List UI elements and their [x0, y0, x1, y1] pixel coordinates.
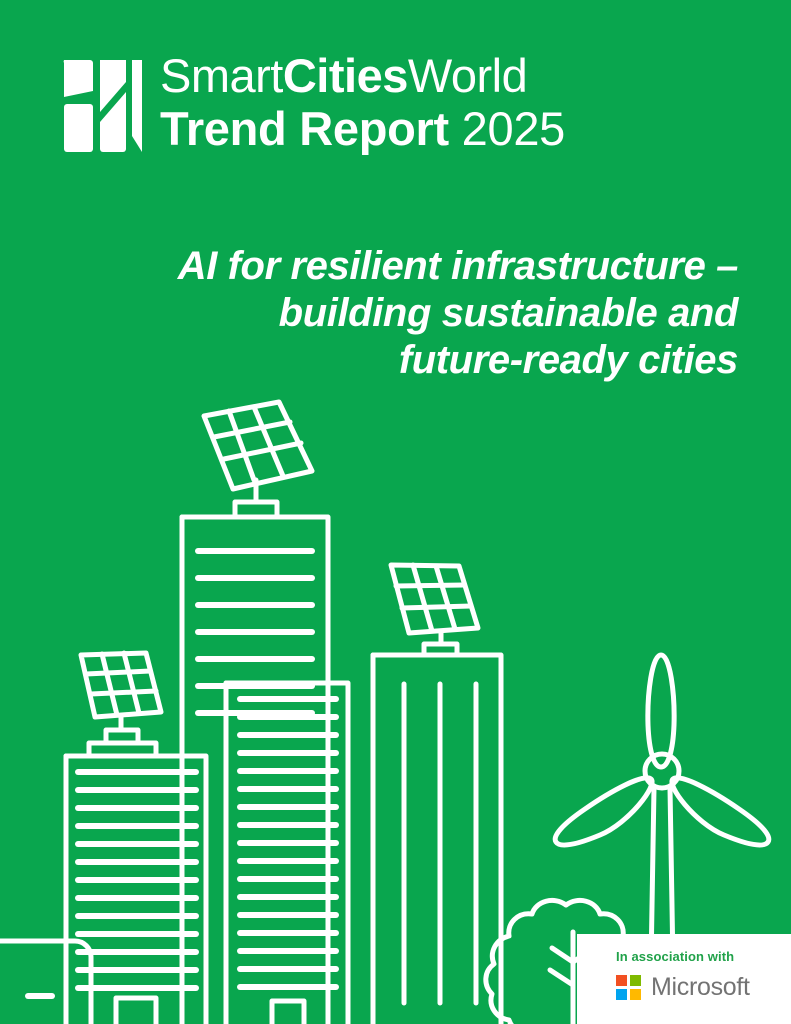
solar-panel-left-building-icon	[66, 653, 206, 1024]
vertical-line-building-icon	[373, 565, 501, 1024]
microsoft-square-bottom-right	[630, 989, 641, 1000]
smart-city-illustration	[0, 0, 791, 1024]
microsoft-square-top-left	[616, 975, 627, 986]
microsoft-square-top-right	[630, 975, 641, 986]
microsoft-logo-icon	[616, 975, 641, 1000]
microsoft-wordmark: Microsoft	[651, 975, 750, 1000]
partner-badge: In association with Microsoft	[577, 934, 791, 1024]
association-label: In association with	[616, 949, 734, 964]
microsoft-logo: Microsoft	[616, 975, 750, 1000]
microsoft-square-bottom-left	[616, 989, 627, 1000]
report-cover-page: SmartCitiesWorld Trend Report 2025 AI fo…	[0, 0, 791, 1024]
